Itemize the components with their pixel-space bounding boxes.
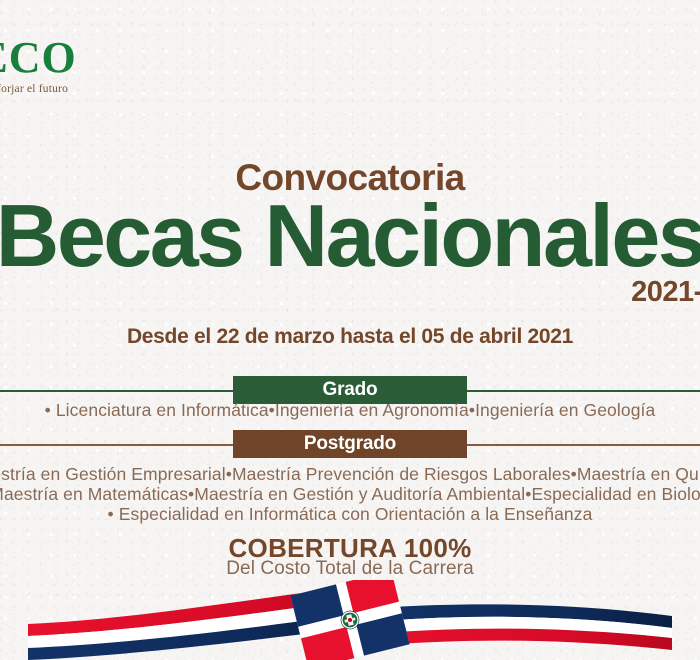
year-range-label: 2021-20 <box>631 276 700 309</box>
date-range-label: Desde el 22 de marzo hasta el 05 de abri… <box>0 325 700 349</box>
coverage-subtitle: Del Costo Total de la Carrera <box>0 558 700 580</box>
poster-canvas: TECO l oro para forjar el futuro REPÚB C… <box>0 0 700 660</box>
divider-rule-left <box>0 390 233 392</box>
section-header-postgrado: Postgrado <box>0 430 700 460</box>
divider-rule-left <box>0 444 233 446</box>
program-list-postgrado-line-3: • Especialidad en Informática con Orient… <box>108 504 593 525</box>
flag-emblem-square <box>290 580 409 660</box>
program-list-grado: • Licenciatura en Informática•Ingeniería… <box>45 400 656 421</box>
logo-wordmark: TECO <box>0 36 148 80</box>
section-banner-postgrado: Postgrado <box>233 430 467 458</box>
divider-rule-right <box>467 444 700 446</box>
page-title: Becas Nacionales <box>0 192 700 280</box>
logo-tagline: l oro para forjar el futuro <box>0 83 148 95</box>
divider-rule-right <box>467 390 700 392</box>
institution-logo: TECO l oro para forjar el futuro <box>0 36 148 95</box>
program-list-postgrado-line-2: Maestría en Matemáticas•Maestría en Gest… <box>0 484 700 505</box>
program-list-postgrado-line-1: aestría en Gestión Empresarial•Maestría … <box>0 464 700 485</box>
dominican-flag-ribbon <box>0 580 700 660</box>
